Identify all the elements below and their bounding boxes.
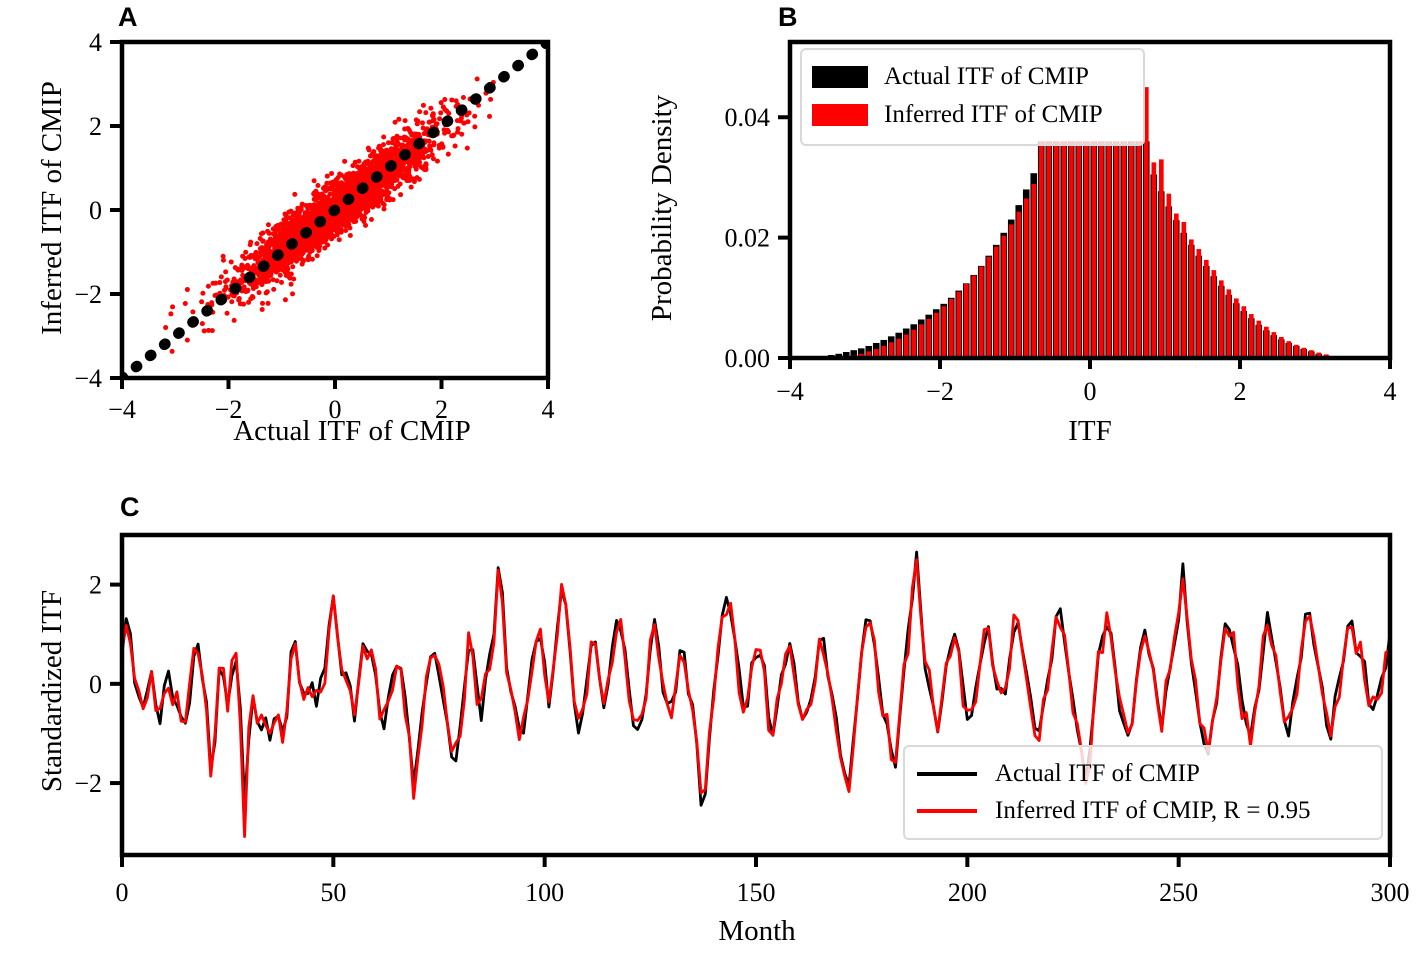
bar-inferred	[1002, 236, 1007, 358]
bar-inferred	[1249, 314, 1254, 358]
bar-inferred	[1122, 141, 1127, 358]
bar-inferred	[1024, 199, 1029, 359]
bar-inferred	[1264, 327, 1269, 358]
bar-inferred	[904, 335, 909, 358]
bar-inferred	[934, 313, 939, 358]
legend-label-actual: Actual ITF of CMIP	[884, 63, 1089, 91]
panel-a-ytick-label: 0	[89, 196, 102, 225]
bar-inferred	[942, 306, 947, 358]
bar-inferred	[1137, 141, 1142, 358]
bar-inferred	[1182, 222, 1187, 358]
legend-entry-actual-line: Actual ITF of CMIP	[917, 755, 1369, 792]
bar-inferred	[1219, 280, 1224, 358]
panel-c-xtick-label: 50	[320, 878, 346, 907]
bar-inferred	[1017, 212, 1022, 358]
bar-inferred	[1242, 306, 1247, 358]
panel-a-ytick-label: 4	[89, 28, 102, 57]
panel-c-timeseries-plot: 050100150200250300−202	[0, 480, 1417, 967]
panel-a-ytick-label: 2	[89, 112, 102, 141]
bar-inferred	[964, 284, 969, 358]
panel-c-ytick-label: 0	[89, 670, 102, 699]
panel-b-ytick-label: 0.00	[725, 344, 771, 373]
panel-b-ylabel: Probability Density	[646, 38, 679, 378]
panel-c-ytick-label: −2	[74, 769, 102, 798]
bar-inferred	[1032, 184, 1037, 358]
legend-swatch-actual-bar	[812, 66, 868, 88]
panel-c-xtick-label: 0	[116, 878, 129, 907]
bar-inferred	[1039, 141, 1044, 358]
bar-inferred	[1197, 249, 1202, 358]
one-to-one-reference-line	[122, 42, 548, 378]
panel-a-ytick-label: −4	[74, 364, 102, 393]
bar-inferred	[1129, 141, 1134, 358]
panel-a-ytick-label: −2	[74, 280, 102, 309]
bar-inferred	[1009, 224, 1014, 358]
bar-inferred	[1257, 321, 1262, 358]
panel-b-ytick-label: 0.02	[725, 224, 771, 253]
panel-a-plot-area: −4−2024−4−2024	[74, 28, 554, 424]
panel-c-xtick-label: 100	[525, 878, 564, 907]
bar-inferred	[889, 342, 894, 358]
panel-c-ytick-label: 2	[89, 571, 102, 600]
bar-inferred	[1077, 141, 1082, 358]
bar-inferred	[1204, 260, 1209, 358]
panel-c-xtick-label: 150	[737, 878, 776, 907]
panel-c-xlabel: Month	[122, 915, 1392, 948]
bar-inferred	[1084, 141, 1089, 358]
bar-inferred	[1234, 298, 1239, 358]
panel-b-ytick-label: 0.04	[725, 103, 771, 132]
bar-inferred	[979, 267, 984, 358]
legend-label-actual-line: Actual ITF of CMIP	[995, 760, 1200, 788]
legend-swatch-actual-line	[917, 772, 977, 776]
bar-inferred	[912, 330, 917, 358]
legend-entry-inferred-line: Inferred ITF of CMIP, R = 0.95	[917, 792, 1369, 829]
figure-canvas: A −4−2024−4−2024 Actual ITF of CMIP Infe…	[0, 0, 1417, 967]
bar-inferred	[987, 257, 992, 358]
bar-inferred	[1272, 332, 1277, 358]
bar-inferred	[972, 276, 977, 358]
panel-b-xtick-label: 2	[1234, 377, 1247, 406]
bar-inferred	[1159, 159, 1164, 358]
bar-inferred	[927, 319, 932, 358]
bar-inferred	[1114, 141, 1119, 358]
panel-b-xtick-label: −2	[926, 377, 954, 406]
bar-inferred	[1092, 141, 1097, 358]
bar-inferred	[1062, 141, 1067, 358]
panel-c-plot-area: 050100150200250300−202	[74, 535, 1409, 907]
panel-c-xtick-label: 200	[948, 878, 987, 907]
bar-inferred	[919, 324, 924, 358]
panel-c-xtick-label: 250	[1159, 878, 1198, 907]
panel-b-xtick-label: 4	[1384, 377, 1397, 406]
bar-inferred	[994, 247, 999, 358]
bar-inferred	[1167, 194, 1172, 358]
panel-c-legend: Actual ITF of CMIP Inferred ITF of CMIP,…	[903, 745, 1383, 840]
panel-b-xtick-label: −4	[776, 377, 804, 406]
bar-inferred	[897, 339, 902, 358]
bar-inferred	[1227, 289, 1232, 358]
legend-entry-actual: Actual ITF of CMIP	[812, 58, 1133, 96]
bar-inferred	[1152, 162, 1157, 358]
legend-swatch-inferred-bar	[812, 104, 868, 126]
bar-inferred	[1054, 141, 1059, 358]
panel-b-xlabel: ITF	[790, 415, 1390, 448]
bar-inferred	[1099, 141, 1104, 358]
bar-inferred	[957, 292, 962, 358]
bar-inferred	[1279, 337, 1284, 358]
panel-a-ylabel: Inferred ITF of CMIP	[36, 38, 69, 378]
bar-inferred	[1287, 341, 1292, 358]
legend-swatch-inferred-line	[917, 809, 977, 813]
panel-c-xtick-label: 300	[1371, 878, 1410, 907]
legend-label-inferred: Inferred ITF of CMIP	[884, 101, 1103, 129]
panel-c-ylabel: Standardized ITF	[36, 526, 69, 856]
bar-inferred	[949, 299, 954, 358]
bar-inferred	[1107, 141, 1112, 358]
panel-a-scatter-plot: −4−2024−4−2024	[0, 0, 620, 470]
legend-label-inferred-line: Inferred ITF of CMIP, R = 0.95	[995, 797, 1310, 825]
panel-a-xlabel: Actual ITF of CMIP	[122, 415, 582, 448]
bar-inferred	[1189, 239, 1194, 358]
legend-entry-inferred: Inferred ITF of CMIP	[812, 96, 1133, 134]
bar-inferred	[1212, 270, 1217, 358]
bar-inferred	[1047, 141, 1052, 358]
panel-b-legend: Actual ITF of CMIP Inferred ITF of CMIP	[800, 48, 1145, 146]
bar-inferred	[1069, 141, 1074, 358]
bar-inferred	[1174, 214, 1179, 358]
panel-b-xtick-label: 0	[1084, 377, 1097, 406]
